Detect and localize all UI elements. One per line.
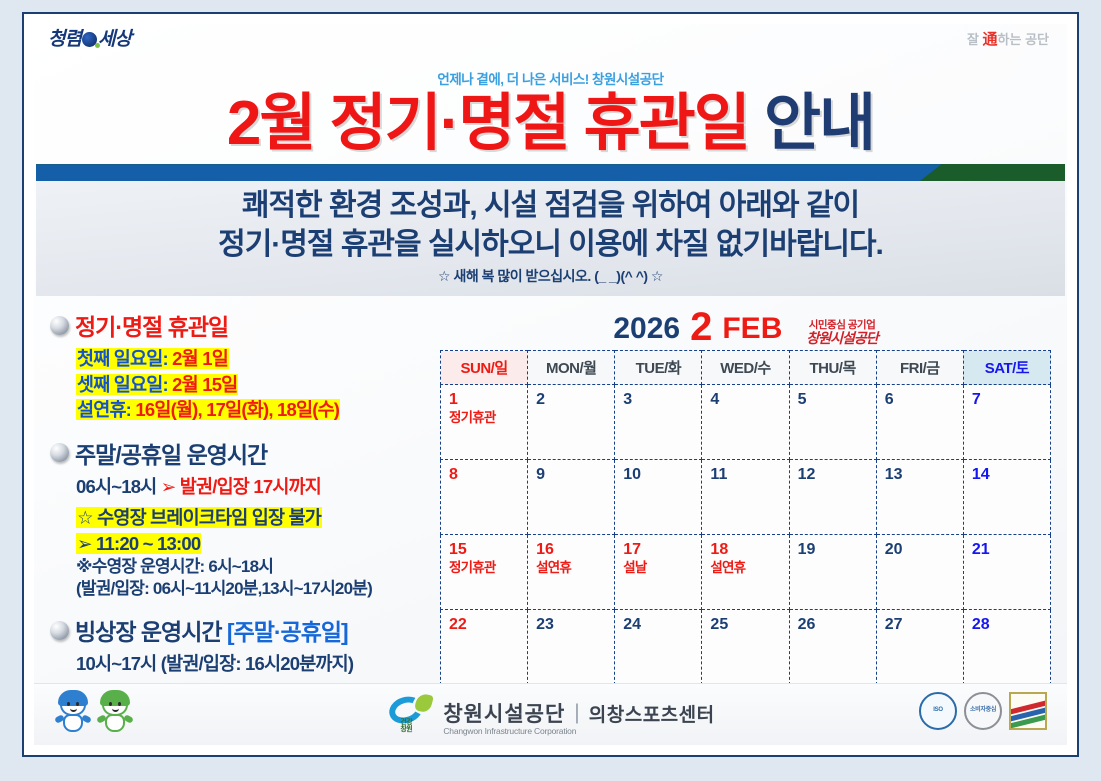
calendar-day-number: 7 [972,391,1050,409]
calendar-day-cell[interactable]: 11 [702,460,789,535]
calendar-day-cell[interactable]: 13 [876,460,963,535]
footer-brand-english: Changwon Infrastructure Corporation [443,726,576,736]
info-row-first-sunday: 첫째 일요일: 2월 1일 [50,346,434,372]
calendar-body: 1정기휴관23456789101112131415정기휴관16설연휴17설날18… [441,385,1051,685]
slogan-post: 하는 공단 [998,32,1049,47]
poster-frame: 청렴세상 잘 通하는 공단 언제나 곁에, 더 나은 서비스! 창원시설공단 2… [22,12,1079,757]
calendar-day-cell[interactable]: 27 [876,610,963,685]
banner-color-strip [36,164,1065,181]
calendar-day-number: 8 [449,466,527,484]
calendar-day-cell[interactable]: 28 [963,610,1050,685]
swoosh-tag-text: 건강창원 [400,719,412,733]
calendar-day-number: 15 [449,541,527,559]
calendar-day-number: 3 [623,391,701,409]
footer-brand-divider: | [574,701,579,725]
calendar-day-number: 27 [885,616,963,634]
calendar-header-cell: WED/수 [702,351,789,385]
info-block-rink-hours: 빙상장 운영시간 [주말·공휴일] 10시~17시 (발권/입장: 16시20분… [50,613,434,677]
calendar-column: 2026 2 FEB 시민중심 공기업 창원시설공단 SUN/일MON/월TUE… [434,308,1067,676]
calendar-day-cell[interactable]: 19 [789,535,876,610]
pool-break-title: 수영장 브레이크타임 입장 불가 [97,507,321,528]
calendar-day-cell[interactable]: 6 [876,385,963,460]
calendar-day-number: 14 [972,466,1050,484]
calendar-week-row: 22232425262728 [441,610,1051,685]
info-head-rink-hours: 빙상장 운영시간 [주말·공휴일] [50,613,434,647]
calendar-day-number: 11 [710,466,788,484]
calendar-day-cell[interactable]: 4 [702,385,789,460]
calendar-day-number: 13 [885,466,963,484]
top-bar: 청렴세상 잘 通하는 공단 [34,24,1067,54]
weekend-hours-value: 06시~18시 [76,476,156,497]
info-row-pool-break-time: ➢ 11:20 ~ 13:00 [50,531,434,557]
calendar-day-number: 12 [798,466,876,484]
calendar-day-number: 26 [798,616,876,634]
calendar-day-cell[interactable]: 21 [963,535,1050,610]
calendar-day-cell[interactable]: 14 [963,460,1050,535]
info-row-weekend-hours: 06시~18시 ➢ 발권/입장 17시까지 [50,474,434,500]
info-row-seollal-holiday: 설연휴: 16일(월), 17일(화), 18일(수) [50,397,434,423]
calendar-day-number: 2 [536,391,614,409]
calendar-header-cell: MON/월 [528,351,615,385]
calendar-day-number: 20 [885,541,963,559]
calendar-day-number: 4 [710,391,788,409]
integrity-logo-right: 세상 [98,28,131,50]
banner-line-1: 쾌적한 환경 조성과, 시설 점검을 위하여 아래와 같이 [36,187,1065,225]
label-third-sunday: 셋째 일요일: [77,374,168,395]
calendar-week-row: 15정기휴관16설연휴17설날18설연휴192021 [441,535,1051,610]
calendar-day-number: 23 [536,616,614,634]
integrity-logo-left: 청렴 [48,28,81,50]
calendar-day-cell[interactable]: 9 [528,460,615,535]
info-heading-1: 정기·명절 휴관일 [75,308,228,342]
value-third-sunday: 2월 15일 [172,374,237,395]
info-block-closure-days: 정기·명절 휴관일 첫째 일요일: 2월 1일 셋째 일요일: 2월 15일 설… [50,308,434,423]
calendar-day-cell[interactable]: 18설연휴 [702,535,789,610]
calendar-day-number: 1 [449,391,527,409]
certification-badge-iso-icon: ISO [919,692,957,730]
calendar-day-cell[interactable]: 17설날 [615,535,702,610]
calendar-day-note: 설연휴 [710,561,788,576]
notice-banner: 쾌적한 환경 조성과, 시설 점검을 위하여 아래와 같이 정기·명절 휴관을 … [36,164,1065,296]
calendar-week-row: 1정기휴관234567 [441,385,1051,460]
rink-heading-bracket: [주말·공휴일] [227,619,348,645]
calendar-year: 2026 [613,312,680,346]
page-title: 2월 정기·명절 휴관일 안내 [34,90,1067,158]
calendar-header-cell: TUE/화 [615,351,702,385]
info-column: 정기·명절 휴관일 첫째 일요일: 2월 1일 셋째 일요일: 2월 15일 설… [34,308,434,676]
calendar-header: 2026 2 FEB 시민중심 공기업 창원시설공단 [440,308,1051,350]
calendar-header-cell: SUN/일 [441,351,528,385]
calendar-day-number: 18 [710,541,788,559]
arrow-icon: ➢ [161,476,176,497]
certification-badge-flag-icon [1009,692,1047,730]
calendar-day-cell[interactable]: 10 [615,460,702,535]
bullet-orb-icon [50,316,69,335]
calendar-day-cell[interactable]: 26 [789,610,876,685]
corporate-slogan: 잘 通하는 공단 [967,28,1049,49]
calendar-day-number: 22 [449,616,527,634]
bullet-orb-icon [50,621,69,640]
rink-heading-main: 빙상장 운영시간 [75,619,227,645]
info-row-rink-hours: 10시~17시 (발권/입장: 16시20분까지) [50,651,434,677]
footer-brand: 건강창원 창원시설공단 | 의창스포츠센터 Changwon Infrastru… [386,694,714,732]
integrity-logo-dot-icon [82,32,97,47]
integrity-logo: 청렴세상 [48,24,131,51]
calendar-day-cell[interactable]: 25 [702,610,789,685]
calendar-day-cell[interactable]: 15정기휴관 [441,535,528,610]
calendar-day-note: 설연휴 [536,561,614,576]
calendar-day-cell[interactable]: 23 [528,610,615,685]
calendar-day-number: 21 [972,541,1050,559]
value-first-sunday: 2월 1일 [172,348,228,369]
headline-area: 언제나 곁에, 더 나은 서비스! 창원시설공단 2월 정기·명절 휴관일 안내 [34,54,1067,158]
calendar-day-number: 10 [623,466,701,484]
certification-badge-ccm-icon: 소비자중심 [964,692,1002,730]
calendar-day-cell[interactable]: 5 [789,385,876,460]
page-title-navy: 안내 [764,89,874,158]
calendar-day-note: 설날 [623,561,701,576]
banner-line-2: 정기·명절 휴관을 실시하오니 이용에 차질 없기바랍니다. [36,226,1065,264]
calendar-day-cell[interactable]: 12 [789,460,876,535]
changwon-swoosh-logo-icon: 건강창원 [386,694,434,732]
info-head-closure-days: 정기·명절 휴관일 [50,308,434,342]
corporate-logo-mark: 시민중심 공기업 창원시설공단 [806,320,877,346]
info-row-third-sunday: 셋째 일요일: 2월 15일 [50,372,434,398]
calendar-day-cell[interactable]: 24 [615,610,702,685]
calendar-header-cell: THU/목 [789,351,876,385]
weekend-ticket-note: 발권/입장 17시까지 [180,476,321,497]
calendar-day-cell[interactable]: 7 [963,385,1050,460]
calendar-table: SUN/일MON/월TUE/화WED/수THU/목FRI/금SAT/토 1정기휴… [440,350,1051,685]
info-heading-2: 주말/공휴일 운영시간 [75,436,267,470]
calendar-month-number: 2 [690,309,712,346]
arrow-icon: ➢ [77,533,92,554]
calendar-day-number: 28 [972,616,1050,634]
corp-logo-name: 창원시설공단 [806,332,877,347]
poster-inner: 청렴세상 잘 通하는 공단 언제나 곁에, 더 나은 서비스! 창원시설공단 2… [34,24,1067,745]
info-row-pool-hours: ※수영장 운영시간: 6시~18시 [50,556,434,578]
calendar-month-abbr: FEB [722,312,782,346]
calendar-day-number: 19 [798,541,876,559]
calendar-day-cell[interactable]: 20 [876,535,963,610]
info-heading-3: 빙상장 운영시간 [주말·공휴일] [75,613,348,647]
calendar-header-cell: FRI/금 [876,351,963,385]
info-row-pool-break: ☆ 수영장 브레이크타임 입장 불가 [50,505,434,531]
calendar-day-number: 17 [623,541,701,559]
info-row-pool-ticket-hours: (발권/입장: 06시~11시20분,13시~17시20분) [50,578,434,600]
mascot-green-icon [98,690,132,734]
label-seollal-holiday: 설연휴: [77,399,131,420]
footer: 건강창원 창원시설공단 | 의창스포츠센터 Changwon Infrastru… [34,683,1067,745]
footer-center-name: 의창스포츠센터 [589,700,715,727]
info-block-weekend-hours: 주말/공휴일 운영시간 06시~18시 ➢ 발권/입장 17시까지 ☆ 수영장 … [50,436,434,601]
calendar-header-row: SUN/일MON/월TUE/화WED/수THU/목FRI/금SAT/토 [441,351,1051,385]
corp-logo-tagline: 시민중심 공기업 [806,320,877,331]
calendar-day-number: 25 [710,616,788,634]
slogan-pre: 잘 [967,32,983,47]
page-title-red: 2월 정기·명절 휴관일 [227,89,749,158]
value-seollal-holiday: 16일(월), 17일(화), 18일(수) [135,399,339,420]
label-first-sunday: 첫째 일요일: [77,348,168,369]
calendar-day-note: 정기휴관 [449,561,527,576]
calendar-day-cell[interactable]: 16설연휴 [528,535,615,610]
calendar-day-number: 9 [536,466,614,484]
content-area: 정기·명절 휴관일 첫째 일요일: 2월 1일 셋째 일요일: 2월 15일 설… [34,296,1067,676]
bullet-orb-icon [50,443,69,462]
star-icon: ☆ [77,507,93,528]
footer-brand-name: 창원시설공단 [443,698,565,728]
certification-badges: ISO 소비자중심 [919,692,1047,730]
calendar-day-cell[interactable]: 2 [528,385,615,460]
info-head-weekend-hours: 주말/공휴일 운영시간 [50,436,434,470]
pool-break-time: 11:20 ~ 13:00 [96,533,200,554]
calendar-day-cell[interactable]: 1정기휴관 [441,385,528,460]
calendar-day-number: 24 [623,616,701,634]
calendar-day-number: 6 [885,391,963,409]
banner-body: 쾌적한 환경 조성과, 시설 점검을 위하여 아래와 같이 정기·명절 휴관을 … [36,181,1065,296]
banner-greeting: ☆ 새해 복 많이 받으십시오. (_ _)(^ ^) ☆ [36,266,1065,286]
calendar-day-number: 16 [536,541,614,559]
calendar-day-cell[interactable]: 8 [441,460,528,535]
calendar-week-row: 891011121314 [441,460,1051,535]
mascot-blue-icon [56,690,90,734]
calendar-day-number: 5 [798,391,876,409]
calendar-day-cell[interactable]: 22 [441,610,528,685]
slogan-accent-hanja: 通 [983,31,998,48]
mascot-group [56,690,132,734]
calendar-day-note: 정기휴관 [449,411,527,426]
calendar-day-cell[interactable]: 3 [615,385,702,460]
eyebrow-text: 언제나 곁에, 더 나은 서비스! 창원시설공단 [34,68,1067,88]
calendar-header-cell: SAT/토 [963,351,1050,385]
